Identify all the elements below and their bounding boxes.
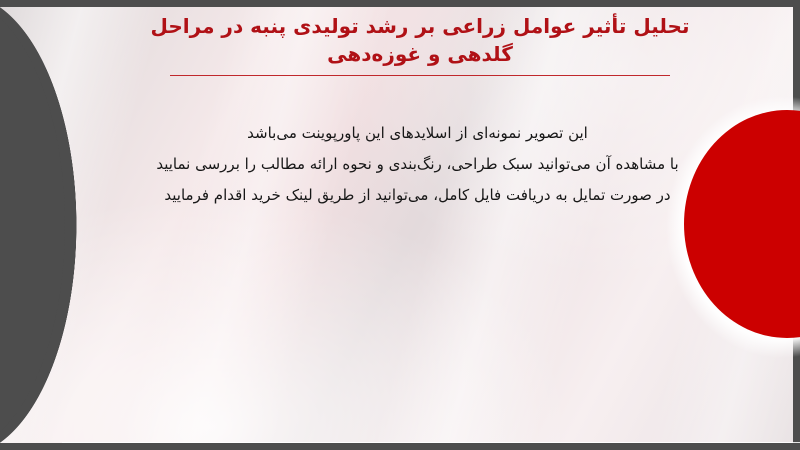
body-paragraph-3: در صورت تمایل به دریافت فایل کامل، می‌تو… bbox=[70, 180, 765, 211]
slide-bottom-bar bbox=[0, 443, 800, 450]
slide-body-block: این تصویر نمونه‌ای از اسلایدهای این پاور… bbox=[70, 118, 765, 210]
body-paragraph-2: با مشاهده آن می‌توانید سبک طراحی، رنگ‌بن… bbox=[70, 149, 765, 180]
slide-title-block: تحلیل تأثیر عوامل زراعی بر رشد تولیدی پن… bbox=[80, 12, 760, 76]
slide-canvas: تحلیل تأثیر عوامل زراعی بر رشد تولیدی پن… bbox=[0, 0, 800, 450]
slide-title: تحلیل تأثیر عوامل زراعی بر رشد تولیدی پن… bbox=[80, 12, 760, 69]
title-underline-rule bbox=[170, 75, 670, 76]
body-paragraph-1: این تصویر نمونه‌ای از اسلایدهای این پاور… bbox=[70, 118, 765, 149]
